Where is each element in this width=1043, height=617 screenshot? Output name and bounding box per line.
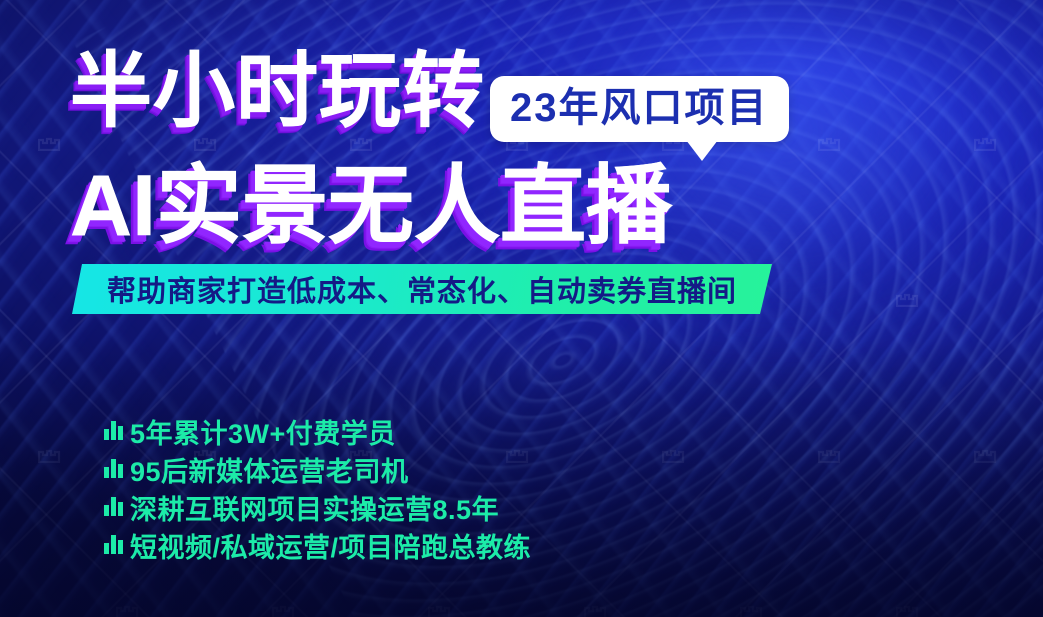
bar-chart-icon xyxy=(104,496,123,516)
credential-item: 深耕互联网项目实操运营8.5年 xyxy=(104,488,531,526)
highlight-badge: 23年风口项目 xyxy=(490,76,789,142)
page-title-line1: 半小时玩转 xyxy=(70,46,485,138)
bar-chart-icon xyxy=(104,420,123,440)
credential-list: 5年累计3W+付费学员95后新媒体运营老司机深耕互联网项目实操运营8.5年短视频… xyxy=(104,412,531,564)
credential-item: 95后新媒体运营老司机 xyxy=(104,450,531,488)
credential-label: 深耕互联网项目实操运营8.5年 xyxy=(130,488,499,527)
headline-line1-row: 半小时玩转 23年风口项目 xyxy=(70,52,970,144)
headline-block: 半小时玩转 23年风口项目 AI实景无人直播 xyxy=(70,52,970,254)
page-title-line2: AI实景无人直播 xyxy=(70,158,672,254)
promo-poster: 半小时玩转 23年风口项目 AI实景无人直播 帮助商家打造低成本、常态化、自动卖… xyxy=(0,0,1043,617)
bar-chart-icon xyxy=(104,458,123,478)
bar-chart-icon xyxy=(104,534,123,554)
highlight-badge-label: 23年风口项目 xyxy=(510,83,769,133)
credential-item: 5年累计3W+付费学员 xyxy=(104,412,531,450)
subtitle-bar: 帮助商家打造低成本、常态化、自动卖券直播间 xyxy=(72,264,772,314)
headline-line2-row: AI实景无人直播 xyxy=(70,158,970,254)
credential-label: 95后新媒体运营老司机 xyxy=(130,450,409,489)
credential-label: 短视频/私域运营/项目陪跑总教练 xyxy=(130,526,531,565)
credential-label: 5年累计3W+付费学员 xyxy=(130,412,396,451)
subtitle-text: 帮助商家打造低成本、常态化、自动卖券直播间 xyxy=(107,268,737,310)
credential-item: 短视频/私域运营/项目陪跑总教练 xyxy=(104,526,531,564)
